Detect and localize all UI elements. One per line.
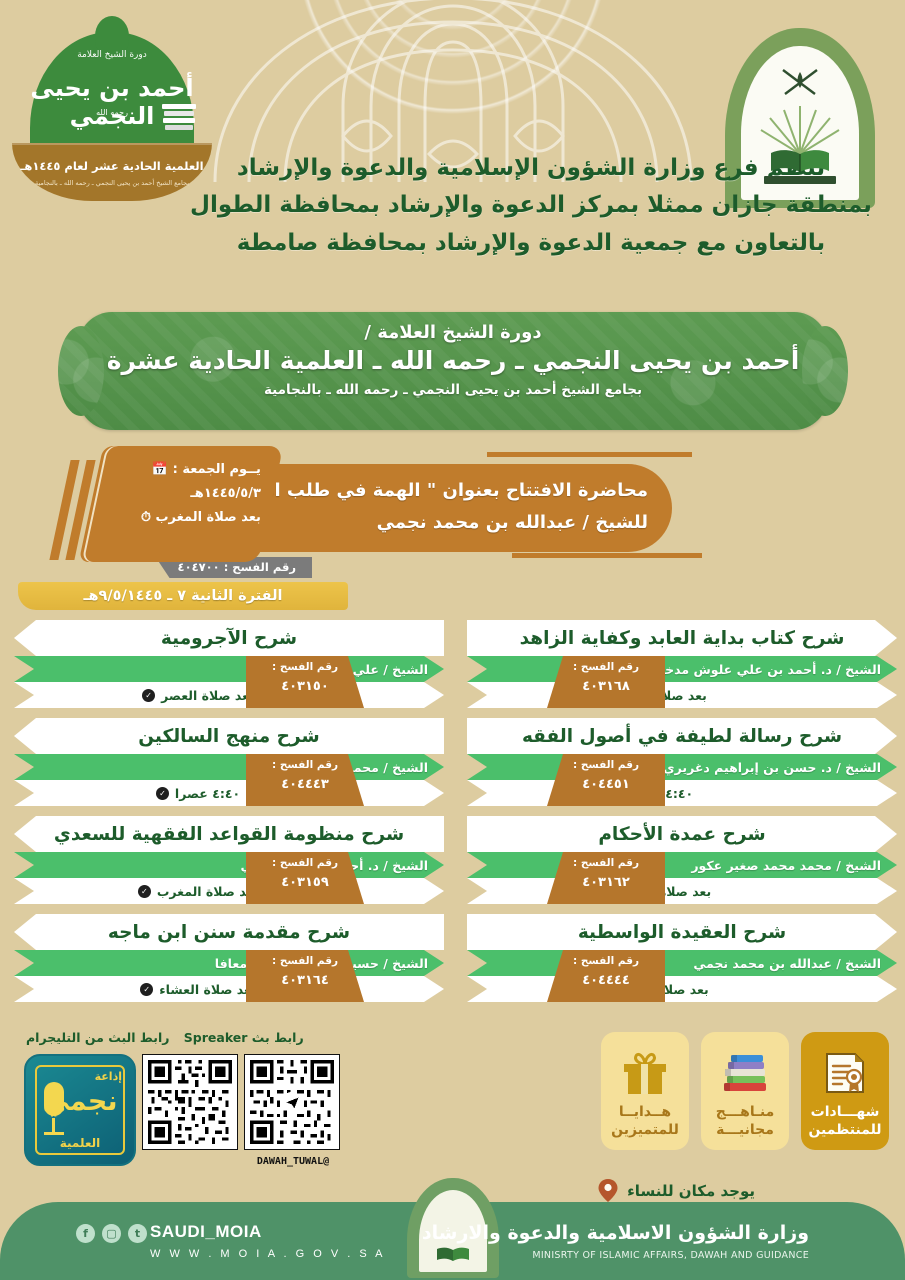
course-card[interactable]: شرح منهج السالكين الشيخ / محمد بن زيد مد… <box>14 718 444 808</box>
opening-time-row: بعد صلاة المغرب ⏱ <box>110 510 261 525</box>
radio-logo: إذاعة نجمي العلمية <box>24 1054 136 1166</box>
course-card[interactable]: شرح مقدمة سنن ابن ماجه الشيخ / حسين بن ي… <box>14 914 444 1004</box>
course-fasah-block: رقم الفسح : ٤٠٣١٦٤ <box>246 950 364 1002</box>
course-title: شرح عمدة الأحكام <box>467 816 897 852</box>
feature-certificates-line2: للمنتظمين <box>801 1122 889 1140</box>
facebook-icon[interactable]: f <box>76 1224 95 1243</box>
course-title: شرح العقيدة الواسطية <box>467 914 897 950</box>
course-sheikh-band: الشيخ / محمد بن زيد مدخلي <box>14 754 444 780</box>
clock-icon: ✓ <box>156 787 169 800</box>
footer-ministry-en: MINISRTY OF ISLAMIC AFFAIRS, DAWAH AND G… <box>532 1250 809 1261</box>
course-fasah-number: ٤٠٤٤٤٣ <box>246 771 364 792</box>
course-time-band: ✓ ٤:٤٠ عصرا <box>14 780 444 806</box>
qr-code-icon <box>148 1060 232 1144</box>
course-fasah-number: ٤٠٣١٥٠ <box>246 673 364 694</box>
course-cards-grid: شرح كتاب بداية العابد وكفاية الزاهد الشي… <box>0 620 905 1010</box>
twitter-icon[interactable]: t <box>128 1224 147 1243</box>
course-fasah-number: ٤٠٣١٦٤ <box>246 967 364 988</box>
swords-palm-icon <box>777 66 823 100</box>
course-sheikh: الشيخ / د. أحمد بن علي علوش مدخلي <box>467 662 897 677</box>
title-line-3: بجامع الشيخ أحمد بن يحيى النجمي ـ رحمه ا… <box>78 382 828 398</box>
broadcast-links-block: رابط بث Spreaker رابط البث من التليجرام … <box>16 1030 346 1210</box>
title-line-2: أحمد بن يحيى النجمي ـ رحمه الله ـ العلمي… <box>78 346 828 375</box>
caption-spreaker: رابط بث Spreaker <box>184 1030 304 1045</box>
course-fasah-number: ٤٠٤٤٤٤ <box>547 967 665 988</box>
course-fasah-label: رقم الفسح : <box>547 950 665 967</box>
course-fasah-block: رقم الفسح : ٤٠٤٤٥١ <box>547 754 665 806</box>
course-fasah-number: ٤٠٤٤٥١ <box>547 771 665 792</box>
books-icon <box>701 1032 789 1104</box>
poster-root: دورة الشيخ العلامة أحمد بن يحيى النجمي ر… <box>0 0 905 1280</box>
course-fasah-label: رقم الفسح : <box>246 950 364 967</box>
opening-fasah-number: ٤٠٤٧٠٠ <box>178 560 220 574</box>
calendar-icon: 📅 <box>152 462 168 477</box>
location-pin-icon <box>597 1178 619 1204</box>
course-fasah-block: رقم الفسح : ٤٠٣١٦٨ <box>547 656 665 708</box>
footer-handle: SAUDI_MOIA <box>150 1222 262 1242</box>
course-time: بعد صلاة العشاء <box>159 982 255 997</box>
feature-gifts-line2: للمتميزين <box>601 1122 689 1140</box>
footer-ministry-ar: وزارة الشؤون الاسلامية والدعوة والارشاد <box>422 1222 809 1244</box>
course-fasah-block: رقم الفسح : ٤٠٤٤٤٤ <box>547 950 665 1002</box>
course-title: شرح الآجرومية <box>14 620 444 656</box>
feature-free-curricula: منـاهـــج مجانيـــة <box>701 1032 789 1150</box>
course-sheikh: الشيخ / محمد محمد صغير عكور <box>467 858 897 873</box>
title-line-1: دورة الشيخ العلامة / <box>78 312 828 343</box>
course-card[interactable]: شرح رسالة لطيفة في أصول الفقه الشيخ / د.… <box>467 718 897 808</box>
course-time: بعد صلاة العصر <box>161 688 254 703</box>
course-card[interactable]: شرح العقيدة الواسطية الشيخ / عبدالله بن … <box>467 914 897 1004</box>
telegram-handle: @DAWAH_TUWAL <box>238 1156 348 1167</box>
course-sheikh-band: الشيخ / عبدالله بن محمد نجمي <box>467 950 897 976</box>
footer-bar: وزارة الشؤون الاسلامية والدعوة والارشاد … <box>0 1202 905 1280</box>
gift-icon <box>601 1032 689 1104</box>
instagram-icon[interactable]: ▢ <box>102 1224 121 1243</box>
books-icon <box>162 104 196 134</box>
course-sheikh-band: الشيخ / علي بن زيد مدخلي <box>14 656 444 682</box>
course-sheikh: الشيخ / علي بن زيد مدخلي <box>14 662 444 677</box>
feature-gifts-line1: هــدايــا <box>601 1104 689 1122</box>
course-fasah-block: رقم الفسح : ٤٠٣١٦٢ <box>547 852 665 904</box>
course-title: شرح منهج السالكين <box>14 718 444 754</box>
radio-logo-bottom: العلمية <box>26 1136 134 1150</box>
radio-logo-middle: نجمي <box>26 1086 134 1117</box>
course-sheikh: الشيخ / عبدالله بن محمد نجمي <box>467 956 897 971</box>
course-fasah-number: ٤٠٣١٦٢ <box>547 869 665 890</box>
radio-logo-top: إذاعة <box>95 1070 122 1083</box>
course-title: شرح كتاب بداية العابد وكفاية الزاهد <box>467 620 897 656</box>
course-time-band: ✓ بعد صلاة المغرب <box>14 878 444 904</box>
course-fasah-label: رقم الفسح : <box>246 656 364 673</box>
logo-line1: دورة الشيخ العلامة <box>12 50 212 60</box>
course-fasah-label: رقم الفسح : <box>246 754 364 771</box>
women-area-note: يوجد مكان للنساء <box>597 1178 755 1204</box>
clock-icon: ✓ <box>138 885 151 898</box>
feature-free-curricula-line2: مجانيـــة <box>701 1122 789 1140</box>
emblem-base-shape <box>764 176 836 184</box>
feature-free-curricula-line1: منـاهـــج <box>701 1104 789 1122</box>
caption-telegram: رابط البث من التليجرام <box>26 1030 169 1045</box>
course-card[interactable]: شرح عمدة الأحكام الشيخ / محمد محمد صغير … <box>467 816 897 906</box>
course-fasah-label: رقم الفسح : <box>547 656 665 673</box>
decor-bar-bottom <box>512 553 702 558</box>
feature-gifts: هــدايــا للمتميزين <box>601 1032 689 1150</box>
course-fasah-label: رقم الفسح : <box>547 754 665 771</box>
course-fasah-block: رقم الفسح : ٤٠٤٤٤٣ <box>246 754 364 806</box>
course-fasah-number: ٤٠٣١٦٨ <box>547 673 665 694</box>
course-time-band: ✓ بعد صلاة العصر <box>14 682 444 708</box>
course-fasah-number: ٤٠٣١٥٩ <box>246 869 364 890</box>
decor-bar-top <box>487 452 692 457</box>
course-sheikh: الشيخ / د. أحمد بن علي زريعي <box>14 858 444 873</box>
opening-lecture-date-block: يــوم الجمعة : 📅 ١٤٤٥/٥/٣هـ بعد صلاة الم… <box>84 446 284 562</box>
course-sheikh-band: الشيخ / د. أحمد بن علي زريعي <box>14 852 444 878</box>
period-label-second: الفترة الثانية ٧ ـ ٩/٥/١٤٤٥هـ <box>18 582 348 610</box>
open-quran-icon <box>436 1246 470 1262</box>
course-sheikh-band: الشيخ / حسين بن يحيى أحمد معافا <box>14 950 444 976</box>
open-quran-icon <box>769 148 831 174</box>
course-sheikh-band: الشيخ / محمد محمد صغير عكور <box>467 852 897 878</box>
opening-day-row: يــوم الجمعة : 📅 <box>110 462 261 477</box>
broadcast-captions: رابط بث Spreaker رابط البث من التليجرام <box>16 1030 346 1045</box>
course-time-band: ✓ بعد صلاة العشاء <box>14 976 444 1002</box>
features-row: شهـــادات للمنتظمين منـاهـــج <box>601 1032 889 1150</box>
footer-socials: t ▢ f <box>76 1224 147 1243</box>
course-time-band: ✓ ٤:٤٠ عصرا <box>467 780 897 806</box>
clock-icon: ✓ <box>140 983 153 996</box>
course-title: شرح رسالة لطيفة في أصول الفقه <box>467 718 897 754</box>
qr-code-icon <box>250 1060 334 1144</box>
course-sheikh: الشيخ / د. حسن بن إبراهيم دغريري <box>467 760 897 775</box>
main-title-plaque: دورة الشيخ العلامة / أحمد بن يحيى النجمي… <box>78 312 828 430</box>
clock-icon: ⏱ <box>141 510 151 525</box>
course-sheikh-band: الشيخ / د. أحمد بن علي علوش مدخلي <box>467 656 897 682</box>
course-card[interactable]: شرح منظومة القواعد الفقهية للسعدي الشيخ … <box>14 816 444 906</box>
course-fasah-block: رقم الفسح : ٤٠٣١٥٠ <box>246 656 364 708</box>
course-time-band: ✓ بعد صلاة العشاء <box>467 976 897 1002</box>
course-time-band: ✓ بعد صلاة العصر <box>467 682 897 708</box>
feature-certificates: شهـــادات للمنتظمين <box>801 1032 889 1150</box>
women-area-text: يوجد مكان للنساء <box>627 1182 755 1200</box>
course-fasah-block: رقم الفسح : ٤٠٣١٥٩ <box>246 852 364 904</box>
opening-fasah-label: رقم الفسح : <box>224 560 296 574</box>
course-time: ٤:٤٠ عصرا <box>175 786 240 801</box>
course-sheikh: الشيخ / حسين بن يحيى أحمد معافا <box>14 956 444 971</box>
opening-time: بعد صلاة المغرب <box>155 510 260 525</box>
opening-day-label: يــوم الجمعة : <box>173 462 261 477</box>
qr-code-telegram[interactable] <box>244 1054 340 1150</box>
organizer-line-2: بمنطقة جازان ممثلا بمركز الدعوة والإرشاد… <box>181 187 881 224</box>
clock-icon: ✓ <box>142 689 155 702</box>
certificate-icon <box>801 1032 889 1104</box>
course-time: بعد صلاة المغرب <box>157 884 258 899</box>
footer-url: W W W . M O I A . G O V . S A <box>150 1248 386 1260</box>
course-time-band: ✓ بعد صلاة المغرب <box>467 878 897 904</box>
opening-date: ١٤٤٥/٥/٣هـ <box>110 486 261 501</box>
course-fasah-label: رقم الفسح : <box>246 852 364 869</box>
course-card[interactable]: شرح الآجرومية الشيخ / علي بن زيد مدخلي ✓… <box>14 620 444 710</box>
course-fasah-label: رقم الفسح : <box>547 852 665 869</box>
organizer-line-3: بالتعاون مع جمعية الدعوة والإرشاد بمحافظ… <box>181 225 881 262</box>
course-sheikh-band: الشيخ / د. حسن بن إبراهيم دغريري <box>467 754 897 780</box>
feature-certificates-line1: شهـــادات <box>801 1104 889 1122</box>
opening-lecture-banner: محاضرة الافتتاح بعنوان " الهمة في طلب ال… <box>52 452 852 564</box>
course-title: شرح مقدمة سنن ابن ماجه <box>14 914 444 950</box>
course-title: شرح منظومة القواعد الفقهية للسعدي <box>14 816 444 852</box>
course-card[interactable]: شرح كتاب بداية العابد وكفاية الزاهد الشي… <box>467 620 897 710</box>
course-sheikh: الشيخ / محمد بن زيد مدخلي <box>14 760 444 775</box>
qr-code-spreaker[interactable] <box>142 1054 238 1150</box>
